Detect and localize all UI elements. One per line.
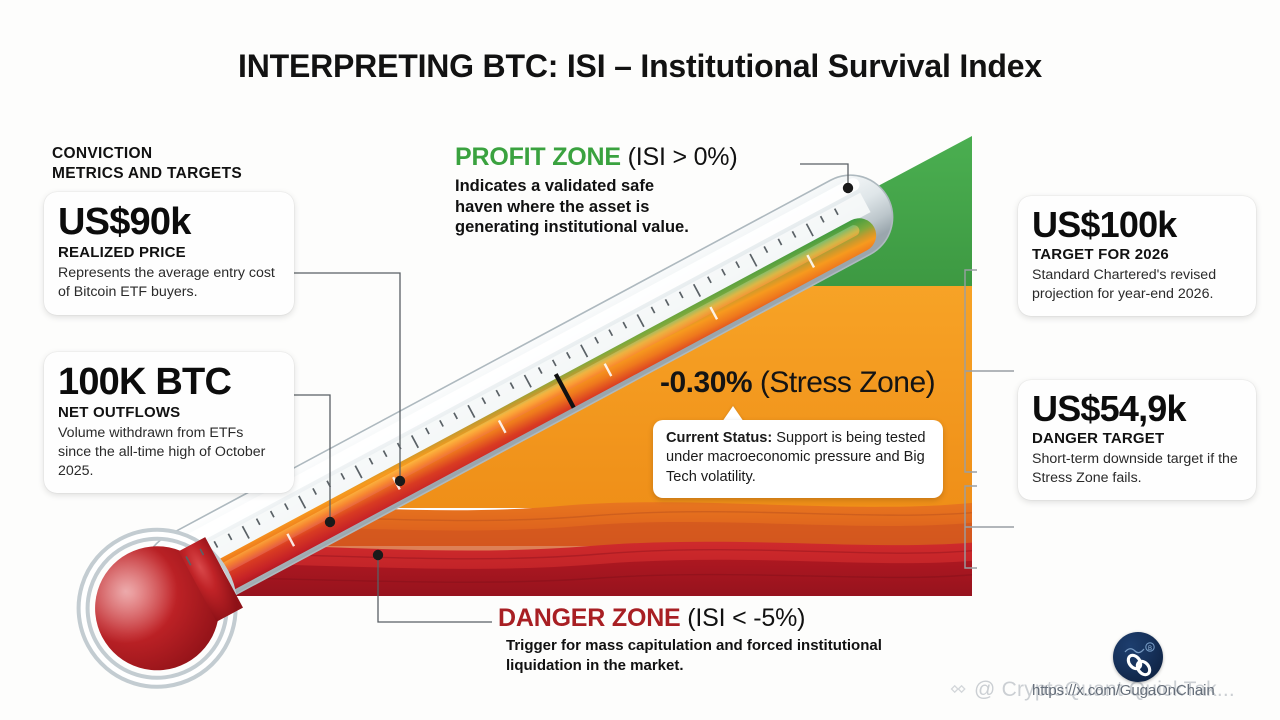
card-target-2026-description: Standard Chartered's revised projection … [1032, 266, 1242, 303]
page-title: INTERPRETING BTC: ISI – Institutional Su… [0, 48, 1280, 85]
conviction-heading-line2: METRICS AND TARGETS [52, 164, 302, 184]
leader-dot-realized [395, 476, 405, 486]
card-danger-target-description: Short-term downside target if the Stress… [1032, 450, 1242, 487]
card-danger-target-label: DANGER TARGET [1032, 430, 1242, 447]
infographic-canvas: INTERPRETING BTC: ISI – Institutional Su… [0, 0, 1280, 720]
profit-zone-condition: (ISI > 0%) [628, 143, 738, 171]
current-isi-zone-label: (Stress Zone) [760, 366, 935, 399]
svg-text:B: B [1148, 646, 1152, 652]
card-net-outflows-description: Volume withdrawn from ETFs since the all… [58, 424, 280, 480]
card-realized-price-value: US$90k [58, 202, 280, 243]
danger-zone-name: DANGER ZONE [498, 604, 681, 632]
card-target-2026-value: US$100k [1032, 206, 1242, 245]
conviction-heading-line1: CONVICTION [52, 144, 302, 164]
current-isi-number: -0.30% [660, 366, 752, 399]
leader-dot-profit [843, 183, 853, 193]
card-target-2026-label: TARGET FOR 2026 [1032, 246, 1242, 263]
danger-zone-block: DANGER ZONE (ISI < -5%) Trigger for mass… [498, 604, 918, 675]
card-net-outflows[interactable]: 100K BTC NET OUTFLOWS Volume withdrawn f… [44, 352, 294, 493]
danger-zone-condition: (ISI < -5%) [687, 604, 805, 632]
profit-zone-title: PROFIT ZONE (ISI > 0%) [455, 143, 800, 172]
card-danger-target[interactable]: US$54,9k DANGER TARGET Short-term downsi… [1018, 380, 1256, 500]
profit-zone-name: PROFIT ZONE [455, 143, 621, 171]
danger-zone-description: Trigger for mass capitulation and forced… [506, 636, 918, 675]
card-realized-price-description: Represents the average entry cost of Bit… [58, 264, 280, 301]
card-target-2026[interactable]: US$100k TARGET FOR 2026 Standard Charter… [1018, 196, 1256, 316]
card-danger-target-value: US$54,9k [1032, 390, 1242, 429]
current-status-bubble: Current Status: Support is being tested … [653, 420, 943, 498]
right-brackets [965, 270, 1014, 568]
profit-zone-block: PROFIT ZONE (ISI > 0%) Indicates a valid… [455, 143, 800, 238]
current-status-prefix: Current Status: [666, 430, 772, 446]
card-realized-price[interactable]: US$90k REALIZED PRICE Represents the ave… [44, 192, 294, 315]
diamond-icon [946, 678, 968, 700]
chain-link-icon: B [1113, 632, 1163, 682]
profit-zone-description: Indicates a validated safe haven where t… [455, 176, 690, 238]
card-net-outflows-label: NET OUTFLOWS [58, 404, 280, 421]
leader-dot-danger [373, 550, 383, 560]
url-watermark: https://x.com/GugaOnChain [1032, 682, 1215, 699]
leader-dot-outflows [325, 517, 335, 527]
conviction-heading: CONVICTION METRICS AND TARGETS [52, 144, 302, 185]
card-net-outflows-value: 100K BTC [58, 362, 280, 403]
current-isi-value: -0.30% (Stress Zone) [660, 366, 935, 400]
chain-link-logo: B [1113, 632, 1163, 682]
card-realized-price-label: REALIZED PRICE [58, 244, 280, 261]
danger-zone-title: DANGER ZONE (ISI < -5%) [498, 604, 918, 633]
